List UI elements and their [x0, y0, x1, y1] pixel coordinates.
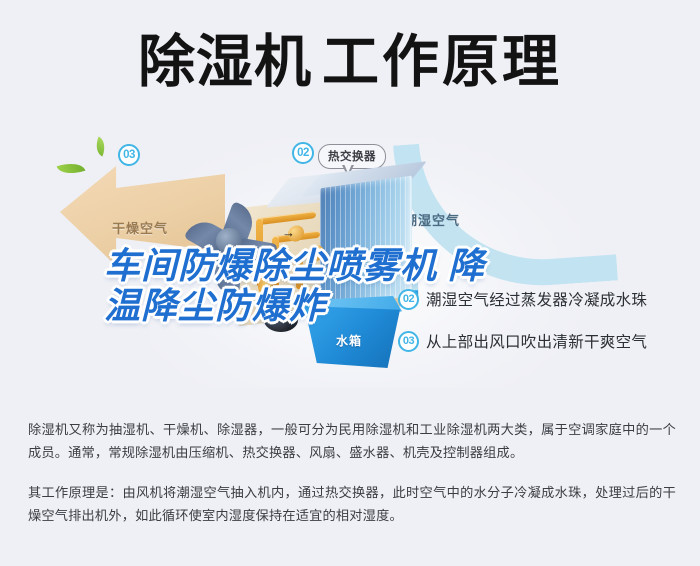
paragraph-2: 其工作原理是：由风机将潮湿空气抽入机内，通过热交换器，此时空气中的水分子冷凝成水…: [28, 481, 676, 527]
page-title: 除湿机工作原理: [0, 30, 700, 94]
legend-item: 02 潮湿空气经过蒸发器冷凝成水珠: [398, 288, 688, 310]
diagram-badge-03: 03: [118, 144, 140, 166]
leaf-icon: [92, 137, 109, 157]
legend-text: 潮湿空气经过蒸发器冷凝成水珠: [426, 288, 647, 310]
body-copy: 除湿机又称为抽湿机、干燥机、除湿器，一般可分为民用除湿机和工业除湿机两大类，属于…: [28, 418, 676, 527]
legend-badge-02: 02: [398, 289, 419, 310]
water-tank-label: 水箱: [336, 332, 362, 349]
flow-arrow-right-icon: →: [282, 226, 295, 239]
dry-air-label: 干燥空气: [112, 218, 168, 237]
leaf-icon: [57, 158, 86, 178]
legend-badge-03: 03: [398, 331, 419, 352]
page-title-secondary: 工作原理: [322, 30, 562, 94]
paragraph-1: 除湿机又称为抽湿机、干燥机、除湿器，一般可分为民用除湿机和工业除湿机两大类，属于…: [28, 418, 676, 464]
page-root: 除湿机工作原理 干燥空气 03 潮湿空气 01 02 热交换器: [0, 0, 700, 566]
legend-text: 从上部出风口吹出清新干爽空气: [426, 330, 647, 352]
legend-item: 03 从上部出风口吹出清新干爽空气: [398, 330, 688, 352]
page-title-primary: 除湿机: [138, 30, 312, 94]
steps-legend: 02 潮湿空气经过蒸发器冷凝成水珠 03 从上部出风口吹出清新干爽空气: [398, 288, 688, 372]
